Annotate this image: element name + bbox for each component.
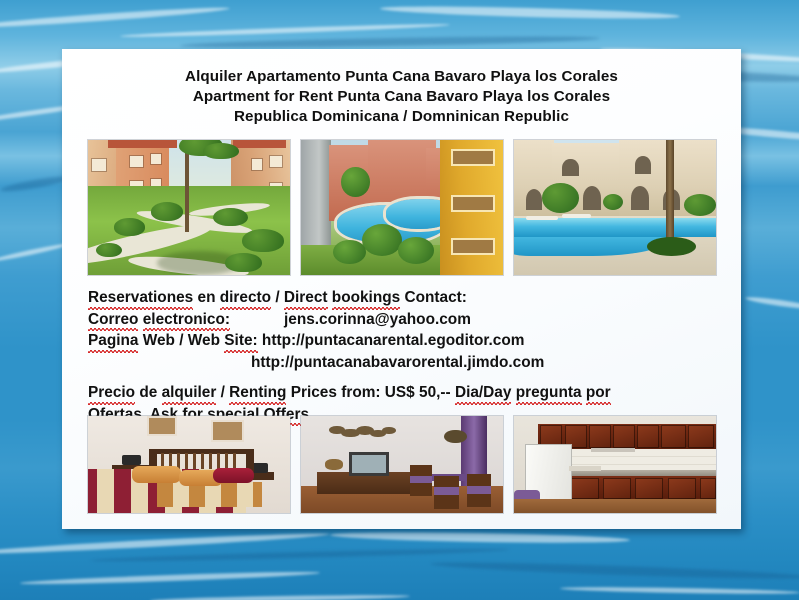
sp-bookings: bookings <box>332 287 400 309</box>
sp-directo: directo <box>220 287 271 309</box>
website-line-2: http://puntacanabavarorental.jimdo.com <box>88 352 733 374</box>
price-line-1: Precio de alquiler / Renting Prices from… <box>88 382 733 404</box>
email-line: Correo electronico:jens.corinna@yahoo.co… <box>88 309 733 331</box>
sp-reservationes: Reservationes <box>88 287 193 309</box>
title-line-1: Alquiler Apartamento Punta Cana Bavaro P… <box>62 67 741 87</box>
photo-living-dining-room <box>301 416 503 513</box>
title-line-3: Republica Dominicana / Domninican Republ… <box>62 107 741 127</box>
photo-row-bottom <box>88 416 716 513</box>
website-url-1[interactable]: http://puntacanarental.egoditor.com <box>262 332 525 349</box>
photo-courtyard-garden <box>88 140 290 275</box>
title-line-2: Apartment for Rent Punta Cana Bavaro Pla… <box>62 87 741 107</box>
photo-kitchen <box>514 416 716 513</box>
sp-dia-day: Dia/Day <box>455 382 511 404</box>
slide-canvas: Alquiler Apartamento Punta Cana Bavaro P… <box>0 0 799 600</box>
sp-site: Site: <box>224 330 257 352</box>
website-line-1: Pagina Web / Web Site: http://puntacanar… <box>88 330 733 352</box>
reservations-heading: Reservationes en directo / Direct bookin… <box>88 287 733 309</box>
photo-bedroom <box>88 416 290 513</box>
email-address[interactable]: jens.corinna@yahoo.com <box>284 311 471 328</box>
website-url-2[interactable]: http://puntacanabavarorental.jimdo.com <box>251 354 544 371</box>
slide-card: Alquiler Apartamento Punta Cana Bavaro P… <box>62 49 741 529</box>
sp-electronico: electronico: <box>143 309 230 331</box>
photo-row-top <box>88 140 716 275</box>
contact-and-price-block: Reservationes en directo / Direct bookin… <box>88 287 733 425</box>
sp-direct: Direct <box>284 287 328 309</box>
sp-pagina: Pagina <box>88 330 138 352</box>
sp-por: por <box>586 382 611 404</box>
photo-pool-between-buildings <box>301 140 503 275</box>
sp-correo: Correo <box>88 309 138 331</box>
photo-large-pool-palm <box>514 140 716 275</box>
page-title: Alquiler Apartamento Punta Cana Bavaro P… <box>62 67 741 127</box>
sp-precio: Precio <box>88 382 135 404</box>
sp-alquiler: alquiler <box>162 382 217 404</box>
sp-pregunta: pregunta <box>516 382 582 404</box>
sp-renting: Renting <box>229 382 286 404</box>
